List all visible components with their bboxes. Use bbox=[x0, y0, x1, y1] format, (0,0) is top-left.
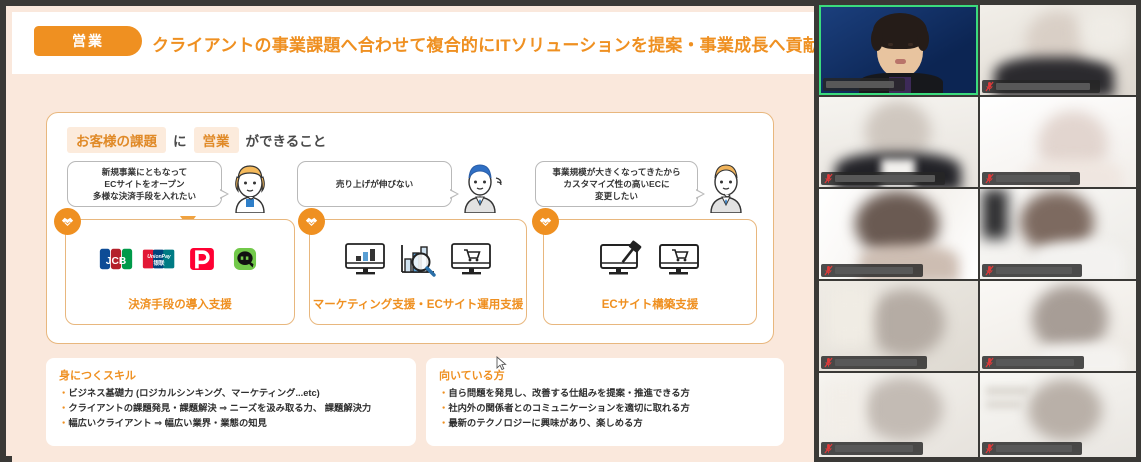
service-card-payment-label: 決済手段の導入支援 bbox=[66, 296, 294, 312]
slide-header-badge: 営業 bbox=[34, 26, 142, 56]
participant-name-redacted bbox=[996, 83, 1090, 90]
speech-bubble-1: 新規事業にともなって ECサイトをオープン 多様な決済手段を入れたい bbox=[67, 161, 222, 207]
bubble-2-line-1: 売り上げが伸びない bbox=[336, 178, 413, 190]
participant-name-bar bbox=[982, 442, 1082, 455]
marketing-icons bbox=[310, 234, 526, 284]
service-card-marketing: マーケティング支援・ECサイト運用支援 bbox=[309, 219, 527, 325]
bubble-group-2: 売り上げが伸びない bbox=[297, 161, 512, 213]
suitable-person-box: 向いている方 自ら問題を発見し、改善する仕組みを提案・推進できる方 社内外の関係… bbox=[426, 358, 784, 446]
heading-tag-sales: 営業 bbox=[194, 127, 239, 153]
participant-name-redacted bbox=[835, 359, 917, 366]
participant-tile[interactable] bbox=[980, 5, 1136, 95]
skills-list: ビジネス基礎力 (ロジカルシンキング、マーケティング...etc) クライアント… bbox=[46, 386, 416, 431]
slide-content: 営業 クライアントの事業課題へ合わせて複合的にITソリューションを提案・事業成長… bbox=[12, 12, 814, 462]
speech-bubble-2: 売り上げが伸びない bbox=[297, 161, 452, 207]
mic-off-icon bbox=[824, 173, 833, 184]
participant-name-bar bbox=[821, 264, 923, 277]
svg-text:UnionPay: UnionPay bbox=[147, 254, 172, 260]
slide-header-badge-label: 営業 bbox=[72, 31, 104, 51]
participant-name-redacted bbox=[835, 175, 935, 182]
unionpay-logo: UnionPay 银联 bbox=[142, 247, 176, 271]
man-thinking-icon bbox=[702, 161, 750, 213]
list-item: 最新のテクノロジーに興味があり、楽しめる方 bbox=[439, 416, 774, 431]
monitor-cart-icon bbox=[449, 241, 493, 277]
bubble-3-line-3: 変更したい bbox=[552, 190, 680, 202]
participant-tile-active-speaker[interactable] bbox=[819, 5, 978, 95]
participant-tile[interactable] bbox=[980, 97, 1136, 187]
man-blue-cap-icon bbox=[456, 161, 504, 213]
monitor-build-icon bbox=[598, 239, 648, 279]
participant-video-panel bbox=[814, 0, 1141, 462]
participant-name-redacted bbox=[835, 445, 913, 452]
mic-off-icon bbox=[824, 265, 833, 276]
list-item: 幅広いクライアント ⇒ 幅広い業界・業態の知見 bbox=[59, 416, 406, 431]
monitor-chart-icon bbox=[343, 241, 387, 277]
speech-bubble-3: 事業規模が大きくなってきたから カスタマイズ性の高いECに 変更したい bbox=[535, 161, 698, 207]
participant-tile[interactable] bbox=[980, 373, 1136, 457]
main-content-card: お客様の課題 に 営業 ができること 新規事業にともなって ECサイトをオープン… bbox=[46, 112, 774, 344]
service-card-payment: JCB UnionPay 银联 bbox=[65, 219, 295, 325]
mic-off-icon bbox=[985, 81, 994, 92]
heading-suffix: ができること bbox=[246, 130, 327, 150]
shared-slide-region: 営業 クライアントの事業課題へ合わせて複合的にITソリューションを提案・事業成長… bbox=[0, 0, 814, 462]
participant-name-redacted bbox=[996, 175, 1070, 182]
service-card-ec-build-label: ECサイト構築支援 bbox=[544, 296, 756, 312]
svg-text:JCB: JCB bbox=[105, 256, 125, 267]
handshake-icon bbox=[54, 208, 81, 235]
participant-tile[interactable] bbox=[980, 189, 1136, 279]
mic-off-icon bbox=[985, 357, 994, 368]
list-item: クライアントの課題発見・課題解決 ⇒ ニーズを汲み取る力、 課題解決力 bbox=[59, 401, 406, 416]
suitable-person-box-title: 向いている方 bbox=[426, 358, 784, 386]
list-item: 社内外の関係者とのコミュニケーションを適切に取れる方 bbox=[439, 401, 774, 416]
list-item: ビジネス基礎力 (ロジカルシンキング、マーケティング...etc) bbox=[59, 386, 406, 401]
participant-name-bar bbox=[982, 356, 1084, 369]
speech-bubble-row: 新規事業にともなって ECサイトをオープン 多様な決済手段を入れたい bbox=[47, 161, 775, 217]
participant-name-redacted bbox=[835, 267, 913, 274]
chart-magnifier-icon bbox=[396, 241, 440, 277]
participant-name-redacted bbox=[996, 445, 1072, 452]
bubble-group-1: 新規事業にともなって ECサイトをオープン 多様な決済手段を入れたい bbox=[67, 161, 282, 213]
participant-tile[interactable] bbox=[819, 189, 978, 279]
participant-tile[interactable] bbox=[819, 281, 978, 371]
suitable-person-list: 自ら問題を発見し、改善する仕組みを提案・推進できる方 社内外の関係者とのコミュニ… bbox=[426, 386, 784, 431]
mic-off-icon bbox=[824, 443, 833, 454]
bubble-3-line-1: 事業規模が大きくなってきたから bbox=[552, 166, 680, 178]
slide-header: 営業 クライアントの事業課題へ合わせて複合的にITソリューションを提案・事業成長… bbox=[12, 12, 814, 74]
participant-name-redacted bbox=[996, 359, 1074, 366]
linepay-logo bbox=[228, 247, 262, 271]
ec-build-icons bbox=[544, 234, 756, 284]
participant-name-bar bbox=[982, 172, 1080, 185]
mic-off-icon bbox=[824, 357, 833, 368]
mic-off-icon bbox=[985, 173, 994, 184]
bubble-3-line-2: カスタマイズ性の高いECに bbox=[552, 178, 680, 190]
jcb-logo: JCB bbox=[99, 247, 133, 271]
bubble-group-3: 事業規模が大きくなってきたから カスタマイズ性の高いECに 変更したい bbox=[535, 161, 760, 213]
handshake-icon bbox=[532, 208, 559, 235]
skills-box: 身につくスキル ビジネス基礎力 (ロジカルシンキング、マーケティング...etc… bbox=[46, 358, 416, 446]
list-item: 自ら問題を発見し、改善する仕組みを提案・推進できる方 bbox=[439, 386, 774, 401]
service-card-marketing-label: マーケティング支援・ECサイト運用支援 bbox=[310, 296, 526, 312]
bubble-1-line-1: 新規事業にともなって bbox=[93, 166, 196, 178]
participant-name-bar bbox=[982, 264, 1082, 277]
monitor-cart-icon bbox=[657, 240, 703, 278]
paypay-logo bbox=[185, 247, 219, 271]
slide-title: クライアントの事業課題へ合わせて複合的にITソリューションを提案・事業成長へ貢献 bbox=[152, 31, 814, 56]
participant-name-redacted bbox=[826, 81, 894, 88]
service-card-ec-build: ECサイト構築支援 bbox=[543, 219, 757, 325]
screen-share-meeting-window: 営業 クライアントの事業課題へ合わせて複合的にITソリューションを提案・事業成長… bbox=[0, 0, 1141, 462]
handshake-icon bbox=[298, 208, 325, 235]
participant-tile[interactable] bbox=[819, 97, 978, 187]
participant-name-bar bbox=[821, 442, 923, 455]
participant-name-redacted bbox=[996, 267, 1072, 274]
heading-connector: に bbox=[173, 130, 187, 150]
skills-box-title: 身につくスキル bbox=[46, 358, 416, 386]
svg-text:银联: 银联 bbox=[153, 259, 165, 267]
participant-tile[interactable] bbox=[819, 373, 978, 457]
bubble-1-line-3: 多様な決済手段を入れたい bbox=[93, 190, 196, 202]
participant-name-bar bbox=[982, 80, 1100, 93]
video-grid bbox=[819, 5, 1136, 457]
woman-thinking-icon bbox=[226, 161, 274, 213]
bubble-1-line-2: ECサイトをオープン bbox=[93, 178, 196, 190]
participant-name-bar bbox=[823, 78, 905, 91]
payment-logos: JCB UnionPay 银联 bbox=[66, 234, 294, 284]
heading-tag-customer-issue: お客様の課題 bbox=[67, 127, 166, 153]
mic-off-icon bbox=[985, 443, 994, 454]
participant-tile[interactable] bbox=[980, 281, 1136, 371]
participant-name-bar bbox=[821, 356, 927, 369]
main-card-heading: お客様の課題 に 営業 ができること bbox=[67, 127, 326, 153]
participant-name-bar bbox=[821, 172, 945, 185]
mic-off-icon bbox=[985, 265, 994, 276]
